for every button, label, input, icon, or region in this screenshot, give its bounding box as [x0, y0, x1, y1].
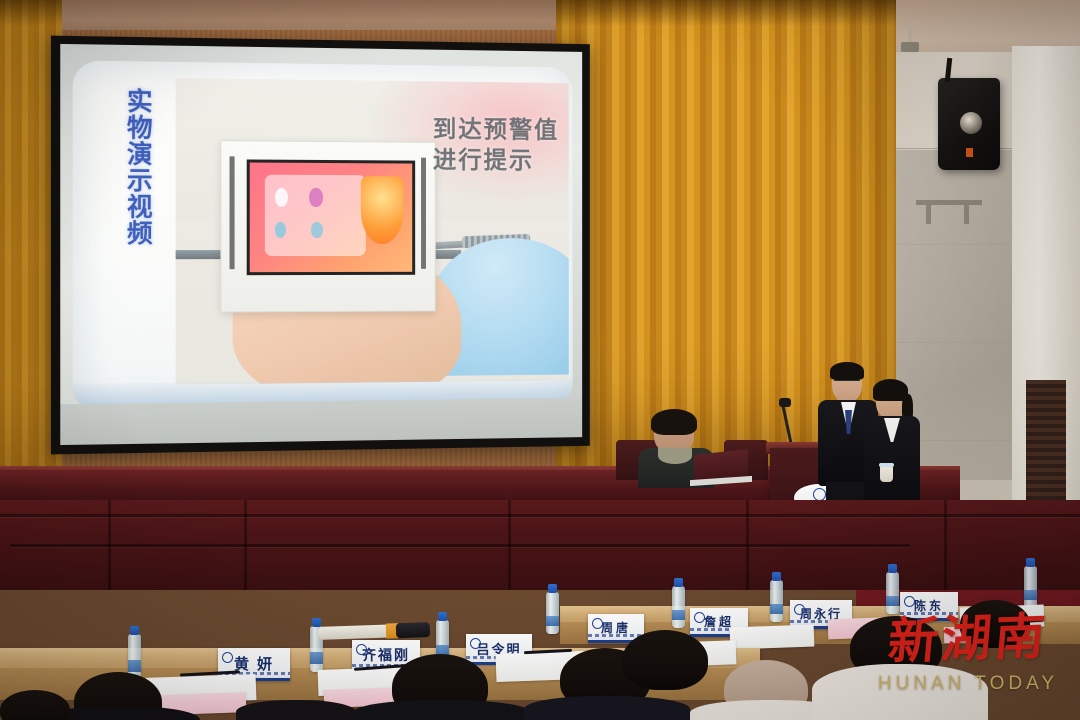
- crest-icon: [592, 618, 603, 629]
- device-icon: [275, 188, 288, 207]
- panel-groove: [0, 514, 1080, 517]
- speaker-icon: [938, 78, 1000, 170]
- panel-divider: [508, 500, 511, 590]
- stage-front-panel: [0, 500, 1080, 590]
- device-ui-card: [265, 175, 366, 256]
- device-icon: [312, 222, 323, 238]
- panel-divider: [944, 500, 947, 590]
- audience-shoulders: [524, 696, 690, 720]
- panel-divider: [244, 500, 247, 590]
- audience-shoulders-light: [812, 664, 988, 720]
- handheld-microphone-icon: [318, 623, 430, 640]
- crest-icon: [694, 612, 705, 623]
- device-icon: [309, 188, 322, 207]
- operator-collar: [658, 448, 692, 464]
- video-device-frame: [220, 140, 436, 313]
- crest-icon: [794, 604, 805, 615]
- name-card-subtext: [900, 612, 958, 615]
- microphone-grip: [396, 622, 431, 638]
- panel-groove: [10, 544, 910, 547]
- presenter-hair: [830, 362, 864, 380]
- device-icon: [275, 222, 286, 238]
- screen-surface: 实物演示视频: [60, 44, 582, 445]
- sprinkler-icon: [908, 22, 912, 44]
- crest-icon: [356, 644, 367, 655]
- water-bottle: [672, 586, 685, 628]
- presentation-slide: 实物演示视频: [73, 60, 573, 410]
- device-bezel-bar: [230, 156, 235, 269]
- device-alert-badge: [361, 176, 403, 243]
- speaker-cone-icon: [960, 112, 982, 134]
- sprinkler-head-icon: [901, 42, 919, 52]
- panel-divider: [746, 500, 749, 590]
- audience-shoulders: [236, 700, 356, 720]
- speaker-led-icon: [966, 148, 973, 157]
- device-screen: [247, 160, 415, 275]
- water-bottle: [886, 572, 899, 614]
- crest-icon: [222, 652, 233, 663]
- name-card-text: 黄妍: [234, 653, 280, 674]
- microphone-icon: [779, 398, 791, 407]
- curtain-shadow: [0, 0, 62, 26]
- screen-lower-band: [60, 398, 582, 445]
- panel-divider: [108, 500, 111, 590]
- wall-bracket-arm-icon: [964, 200, 969, 224]
- name-card-text: 陈东: [914, 597, 944, 614]
- slide-caption-line2: 进行提示: [433, 146, 559, 177]
- document-sheet: [730, 625, 815, 650]
- operator-hair: [651, 409, 697, 435]
- name-card-text: 齐福刚: [362, 645, 410, 665]
- name-card-text: 周唐: [601, 619, 631, 636]
- water-bottle: [546, 592, 559, 634]
- audience-shoulders: [352, 700, 532, 720]
- water-bottle: [1024, 566, 1037, 608]
- device-bezel-bar: [422, 158, 427, 269]
- audience-head: [960, 600, 1030, 648]
- audience-head: [622, 630, 708, 690]
- crest-icon: [904, 596, 915, 607]
- water-bottle: [770, 580, 783, 622]
- wall-bracket-arm-icon: [926, 200, 931, 224]
- projection-screen: 实物演示视频: [51, 36, 590, 455]
- crest-icon: [470, 638, 481, 649]
- slide-caption-line1: 到达预警值: [433, 115, 559, 146]
- photograph-scene: 实物演示视频: [0, 0, 1080, 720]
- glasses-icon: [834, 380, 860, 385]
- curtain-shadow: [556, 0, 896, 26]
- paper-cup-icon: [880, 466, 893, 482]
- slide-vertical-title: 实物演示视频: [104, 87, 155, 246]
- slide-caption-block: 到达预警值 进行提示: [433, 115, 559, 177]
